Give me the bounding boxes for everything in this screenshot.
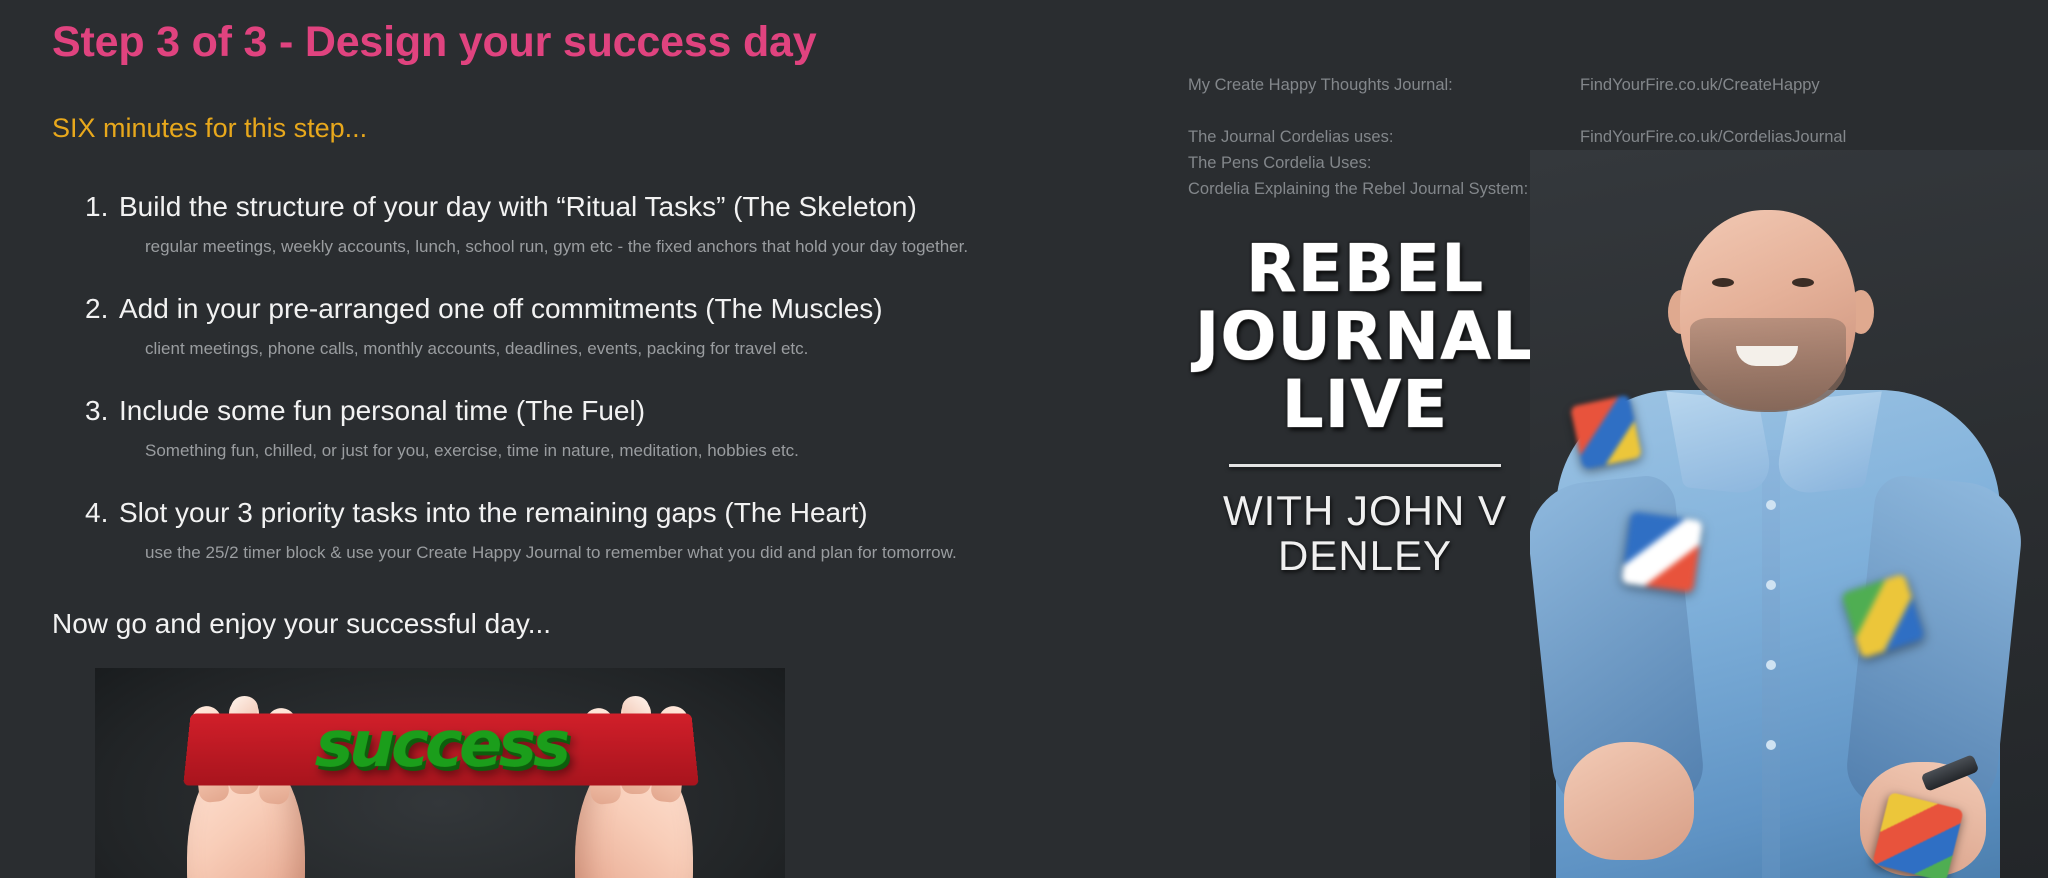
presentation-slide: Step 3 of 3 - Design your success day SI… [0, 0, 2048, 878]
link-label: My Create Happy Thoughts Journal: [1188, 76, 1580, 95]
closing-statement: Now go and enjoy your successful day... [52, 608, 551, 640]
step-sub-text: regular meetings, weekly accounts, lunch… [145, 237, 1125, 257]
list-item: 2.Add in your pre-arranged one off commi… [85, 294, 1125, 359]
step-sub-text: client meetings, phone calls, monthly ac… [145, 339, 1125, 359]
page-title: Step 3 of 3 - Design your success day [52, 18, 816, 67]
step-main-text: 2.Add in your pre-arranged one off commi… [85, 294, 1125, 325]
shirt-button-shape [1766, 500, 1776, 510]
table-row: My Create Happy Thoughts Journal: FindYo… [1188, 72, 2008, 98]
shirt-button-shape [1766, 660, 1776, 670]
list-item: 3.Include some fun personal time (The Fu… [85, 396, 1125, 461]
step-label: Build the structure of your day with “Ri… [119, 191, 917, 222]
step-number: 2. [85, 294, 119, 325]
juggling-cube-shape [1621, 511, 1702, 592]
shirt-button-shape [1766, 740, 1776, 750]
step-main-text: 3.Include some fun personal time (The Fu… [85, 396, 1125, 427]
link-label: The Pens Cordelia Uses: [1188, 154, 1580, 173]
presenter-hand-left-shape [1564, 742, 1694, 860]
step-number: 1. [85, 192, 119, 223]
link-label: Cordelia Explaining the Rebel Journal Sy… [1188, 180, 1580, 199]
logo-line-live: LIVE [1150, 374, 1580, 436]
table-row: The Journal Cordelias uses: FindYourFire… [1188, 124, 2008, 150]
step-sub-text: use the 25/2 timer block & use your Crea… [145, 543, 1125, 563]
list-item: 1.Build the structure of your day with “… [85, 192, 1125, 257]
step-label: Slot your 3 priority tasks into the rema… [119, 497, 868, 528]
step-number: 4. [85, 498, 119, 529]
link-url[interactable]: FindYourFire.co.uk/CordeliasJournal [1580, 128, 1846, 147]
link-label: The Journal Cordelias uses: [1188, 128, 1580, 147]
step-sub-text: Something fun, chilled, or just for you,… [145, 441, 1125, 461]
logo-line-rebel: REBEL [1150, 238, 1580, 300]
row-spacer [1188, 98, 2008, 124]
logo-line-journal: JOURNAL [1150, 306, 1580, 368]
presenter-eye-left-shape [1712, 278, 1734, 287]
presenter-eye-right-shape [1792, 278, 1814, 287]
link-url[interactable]: FindYourFire.co.uk/CreateHappy [1580, 76, 1820, 95]
rebel-journal-live-logo: REBEL JOURNAL LIVE WITH JOHN V DENLEY [1150, 238, 1580, 578]
logo-presenter-line-2: DENLEY [1150, 534, 1580, 579]
logo-presenter-line-1: WITH JOHN V [1150, 489, 1580, 534]
success-word-text: success [186, 694, 696, 798]
juggling-cube-shape [1570, 394, 1642, 469]
shirt-button-shape [1766, 580, 1776, 590]
list-item: 4.Slot your 3 priority tasks into the re… [85, 498, 1125, 563]
slide-subtitle: SIX minutes for this step... [52, 113, 367, 144]
success-photo: success [95, 668, 785, 878]
step-main-text: 1.Build the structure of your day with “… [85, 192, 1125, 223]
logo-divider [1229, 464, 1501, 467]
step-label: Add in your pre-arranged one off commitm… [119, 293, 883, 324]
presenter-photo [1530, 150, 2048, 878]
left-content-column: Step 3 of 3 - Design your success day SI… [0, 0, 1140, 878]
right-content-column: My Create Happy Thoughts Journal: FindYo… [1140, 0, 2048, 878]
step-label: Include some fun personal time (The Fuel… [119, 395, 645, 426]
step-main-text: 4.Slot your 3 priority tasks into the re… [85, 498, 1125, 529]
step-number: 3. [85, 396, 119, 427]
